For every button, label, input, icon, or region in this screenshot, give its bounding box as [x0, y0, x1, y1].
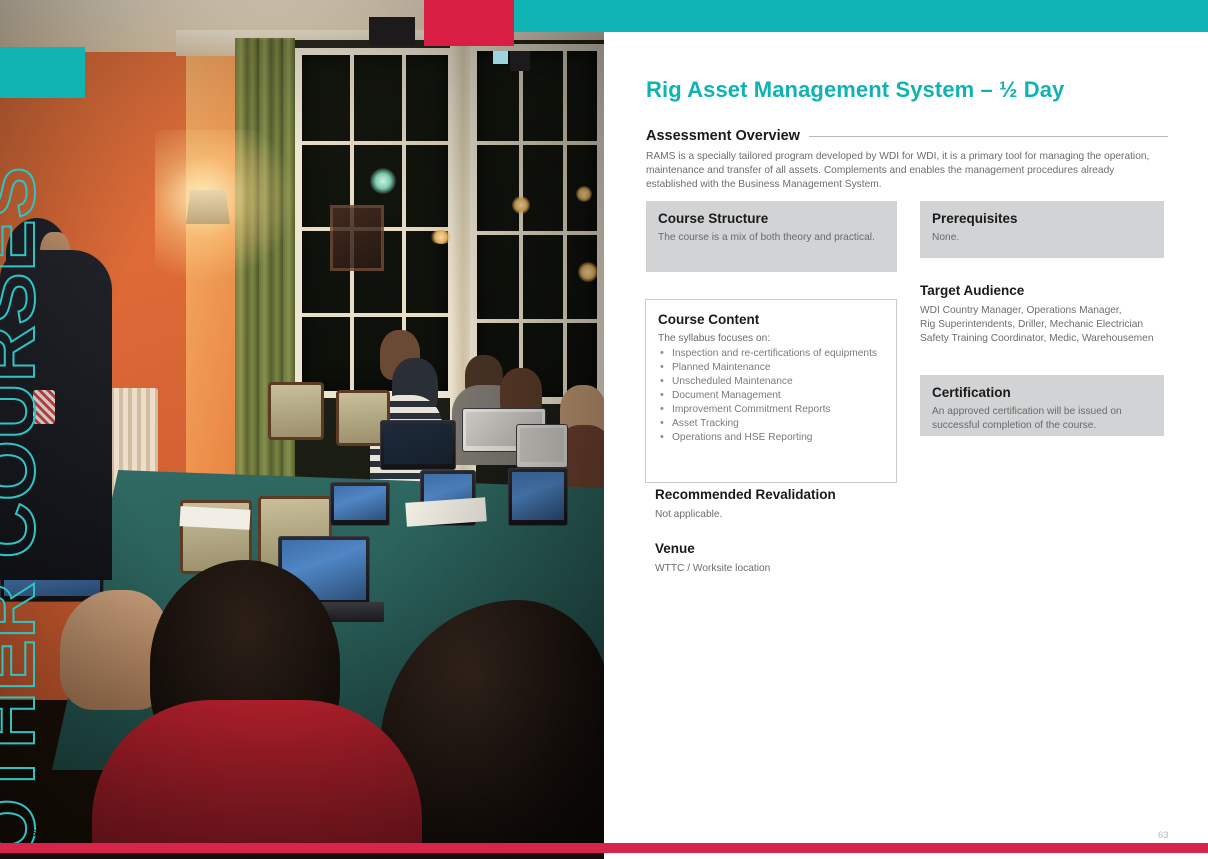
- photo-light-reflection: [370, 168, 396, 194]
- course-content-box: Course Content The syllabus focuses on: …: [645, 299, 897, 483]
- decor-black-block: [369, 17, 415, 45]
- photo-laptop: [516, 424, 568, 468]
- course-content-list: Inspection and re-certifications of equi…: [658, 347, 884, 445]
- classroom-photo: OTHER COURSES: [0, 0, 604, 843]
- list-item: Operations and HSE Reporting: [658, 431, 884, 445]
- photo-warm-light: [576, 186, 592, 202]
- course-content-heading: Course Content: [658, 312, 884, 327]
- list-item: Document Management: [658, 389, 884, 403]
- prerequisites-heading: Prerequisites: [932, 211, 1152, 226]
- assessment-overview-text: RAMS is a specially tailored program dev…: [646, 150, 1166, 192]
- course-details-page: Rig Asset Management System – ½ Day Asse…: [604, 32, 1208, 843]
- list-item: Planned Maintenance: [658, 361, 884, 375]
- photo-warm-light: [512, 196, 530, 214]
- list-item: Inspection and re-certifications of equi…: [658, 347, 884, 361]
- photo-window-right: [470, 44, 604, 404]
- course-structure-box: Course Structure The course is a mix of …: [646, 201, 897, 272]
- photo-framed-picture: [330, 205, 384, 271]
- certification-text: An approved certification will be issued…: [932, 405, 1152, 433]
- course-content-intro: The syllabus focuses on:: [658, 332, 884, 346]
- photo-paper: [180, 506, 251, 530]
- heading-rule: [809, 136, 1168, 137]
- list-item: Improvement Commitment Reports: [658, 403, 884, 417]
- recommended-revalidation-heading: Recommended Revalidation: [655, 487, 836, 502]
- certification-box: Certification An approved certification …: [920, 375, 1164, 436]
- brochure-page-spread: OTHER COURSES Rig Asset Management Syste…: [0, 0, 1208, 859]
- decor-light-blue-square: [493, 51, 508, 64]
- bottom-red-bar: [0, 843, 1208, 853]
- photo-presenter-body: [0, 250, 112, 580]
- list-item: Asset Tracking: [658, 417, 884, 431]
- target-audience-heading: Target Audience: [920, 283, 1024, 298]
- target-audience-line-3: Safety Training Coordinator, Medic, Ware…: [920, 332, 1166, 346]
- bottom-white-strip: [604, 853, 1208, 859]
- decor-teal-top-bar: [514, 0, 1208, 32]
- photo-laptop: [330, 482, 390, 526]
- decor-red-block: [424, 0, 514, 46]
- decor-black-square: [510, 51, 530, 71]
- page-number-left: 62: [31, 828, 42, 839]
- target-audience-line-2: Rig Superintendents, Driller, Mechanic E…: [920, 318, 1166, 332]
- prerequisites-text: None.: [932, 231, 1152, 245]
- photo-warm-light: [578, 262, 598, 282]
- prerequisites-box: Prerequisites None.: [920, 201, 1164, 258]
- page-number-right: 63: [1158, 830, 1169, 841]
- photo-wall-sconce: [186, 190, 230, 224]
- venue-heading: Venue: [655, 541, 695, 556]
- page-title: Rig Asset Management System – ½ Day: [646, 77, 1064, 103]
- certification-heading: Certification: [932, 385, 1152, 400]
- target-audience-line-1: WDI Country Manager, Operations Manager,: [920, 304, 1166, 318]
- list-item: Unscheduled Maintenance: [658, 375, 884, 389]
- photo-canvas: [0, 0, 604, 843]
- venue-text: WTTC / Worksite location: [655, 562, 955, 576]
- photo-chair: [268, 382, 324, 440]
- photo-laptop: [380, 420, 456, 470]
- assessment-overview-heading-row: Assessment Overview: [646, 128, 1168, 144]
- assessment-overview-heading: Assessment Overview: [646, 128, 800, 144]
- decor-teal-left-block: [0, 47, 85, 98]
- recommended-revalidation-text: Not applicable.: [655, 508, 955, 522]
- photo-presenter-hand: [33, 390, 55, 424]
- course-structure-text: The course is a mix of both theory and p…: [658, 231, 885, 245]
- photo-warm-light: [430, 230, 452, 244]
- course-structure-heading: Course Structure: [658, 211, 885, 226]
- photo-laptop: [508, 468, 568, 526]
